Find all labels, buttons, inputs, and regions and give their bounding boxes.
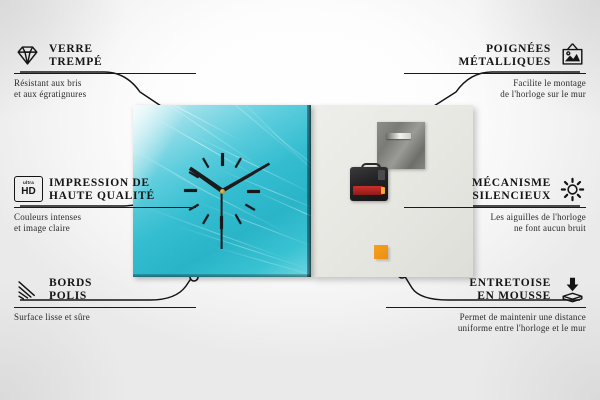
feature-entretoise-en-mousse: ENTRETOISE EN MOUSSE Permet de maintenir…	[386, 276, 586, 334]
feature-header: ultra HD IMPRESSION DE HAUTE QUALITÉ	[14, 176, 196, 203]
feature-divider	[14, 307, 196, 308]
feature-subtitle-line1: Surface lisse et sûre	[14, 312, 196, 323]
feature-title: MÉCANISME SILENCIEUX	[472, 177, 551, 203]
feature-subtitle-line1: Couleurs intenses	[14, 212, 196, 223]
feature-subtitle-line1: Résistant aux bris	[14, 78, 196, 89]
hanger-slot	[386, 133, 411, 139]
feature-subtitle-line2: et image claire	[14, 223, 196, 234]
movement-dial	[378, 170, 385, 180]
foam-spacer	[374, 245, 388, 259]
feature-impression-haute-qualite: ultra HD IMPRESSION DE HAUTE QUALITÉ Cou…	[14, 176, 196, 234]
feature-title: IMPRESSION DE HAUTE QUALITÉ	[49, 177, 155, 203]
feature-divider	[404, 207, 586, 208]
feature-divider	[404, 73, 586, 74]
feature-header: BORDS POLIS	[14, 276, 196, 303]
feature-title: POIGNÉES MÉTALLIQUES	[459, 43, 551, 69]
feature-subtitle-line2: de l'horloge sur le mur	[404, 89, 586, 100]
ultra-hd-icon: ultra HD	[14, 176, 41, 203]
hanger-plate	[377, 122, 425, 169]
battery-terminal	[381, 187, 385, 194]
feature-title: BORDS POLIS	[49, 277, 92, 303]
feature-header: ENTRETOISE EN MOUSSE	[386, 276, 586, 303]
feature-divider	[14, 207, 196, 208]
feature-verre-trempe: VERRE TREMPÉ Résistant aux bris et aux é…	[14, 42, 196, 100]
polished-edges-icon	[14, 276, 41, 303]
clock-movement	[350, 163, 388, 201]
feature-title: VERRE TREMPÉ	[49, 43, 102, 69]
feature-divider	[14, 73, 196, 74]
hd-icon-main-text: HD	[21, 187, 35, 197]
clock-edge-right	[307, 105, 311, 277]
clock-center-hub	[220, 189, 225, 194]
second-hand	[221, 191, 223, 249]
feature-title: ENTRETOISE EN MOUSSE	[469, 277, 551, 303]
diamond-icon	[14, 42, 41, 69]
feature-header: POIGNÉES MÉTALLIQUES	[404, 42, 586, 69]
feature-header: MÉCANISME SILENCIEUX	[404, 176, 586, 203]
feature-subtitle-line2: ne font aucun bruit	[404, 223, 586, 234]
infographic-canvas: VERRE TREMPÉ Résistant aux bris et aux é…	[0, 0, 600, 400]
feature-subtitle-line1: Facilite le montage	[404, 78, 586, 89]
foam-spacer-icon	[559, 276, 586, 303]
feature-bords-polis: BORDS POLIS Surface lisse et sûre	[14, 276, 196, 323]
feature-subtitle-line1: Permet de maintenir une distance	[386, 312, 586, 323]
wall-mount-icon	[559, 42, 586, 69]
feature-header: VERRE TREMPÉ	[14, 42, 196, 69]
feature-mecanisme-silencieux: MÉCANISME SILENCIEUX Les aiguilles de l'…	[404, 176, 586, 234]
feature-subtitle-line2: et aux égratignures	[14, 89, 196, 100]
feature-subtitle-line1: Les aiguilles de l'horloge	[404, 212, 586, 223]
feature-subtitle-line2: uniforme entre l'horloge et le mur	[386, 323, 586, 334]
feature-poignees-metalliques: POIGNÉES MÉTALLIQUES Facilite le montage…	[404, 42, 586, 100]
feature-divider	[386, 307, 586, 308]
gear-icon	[559, 176, 586, 203]
battery	[353, 186, 383, 195]
